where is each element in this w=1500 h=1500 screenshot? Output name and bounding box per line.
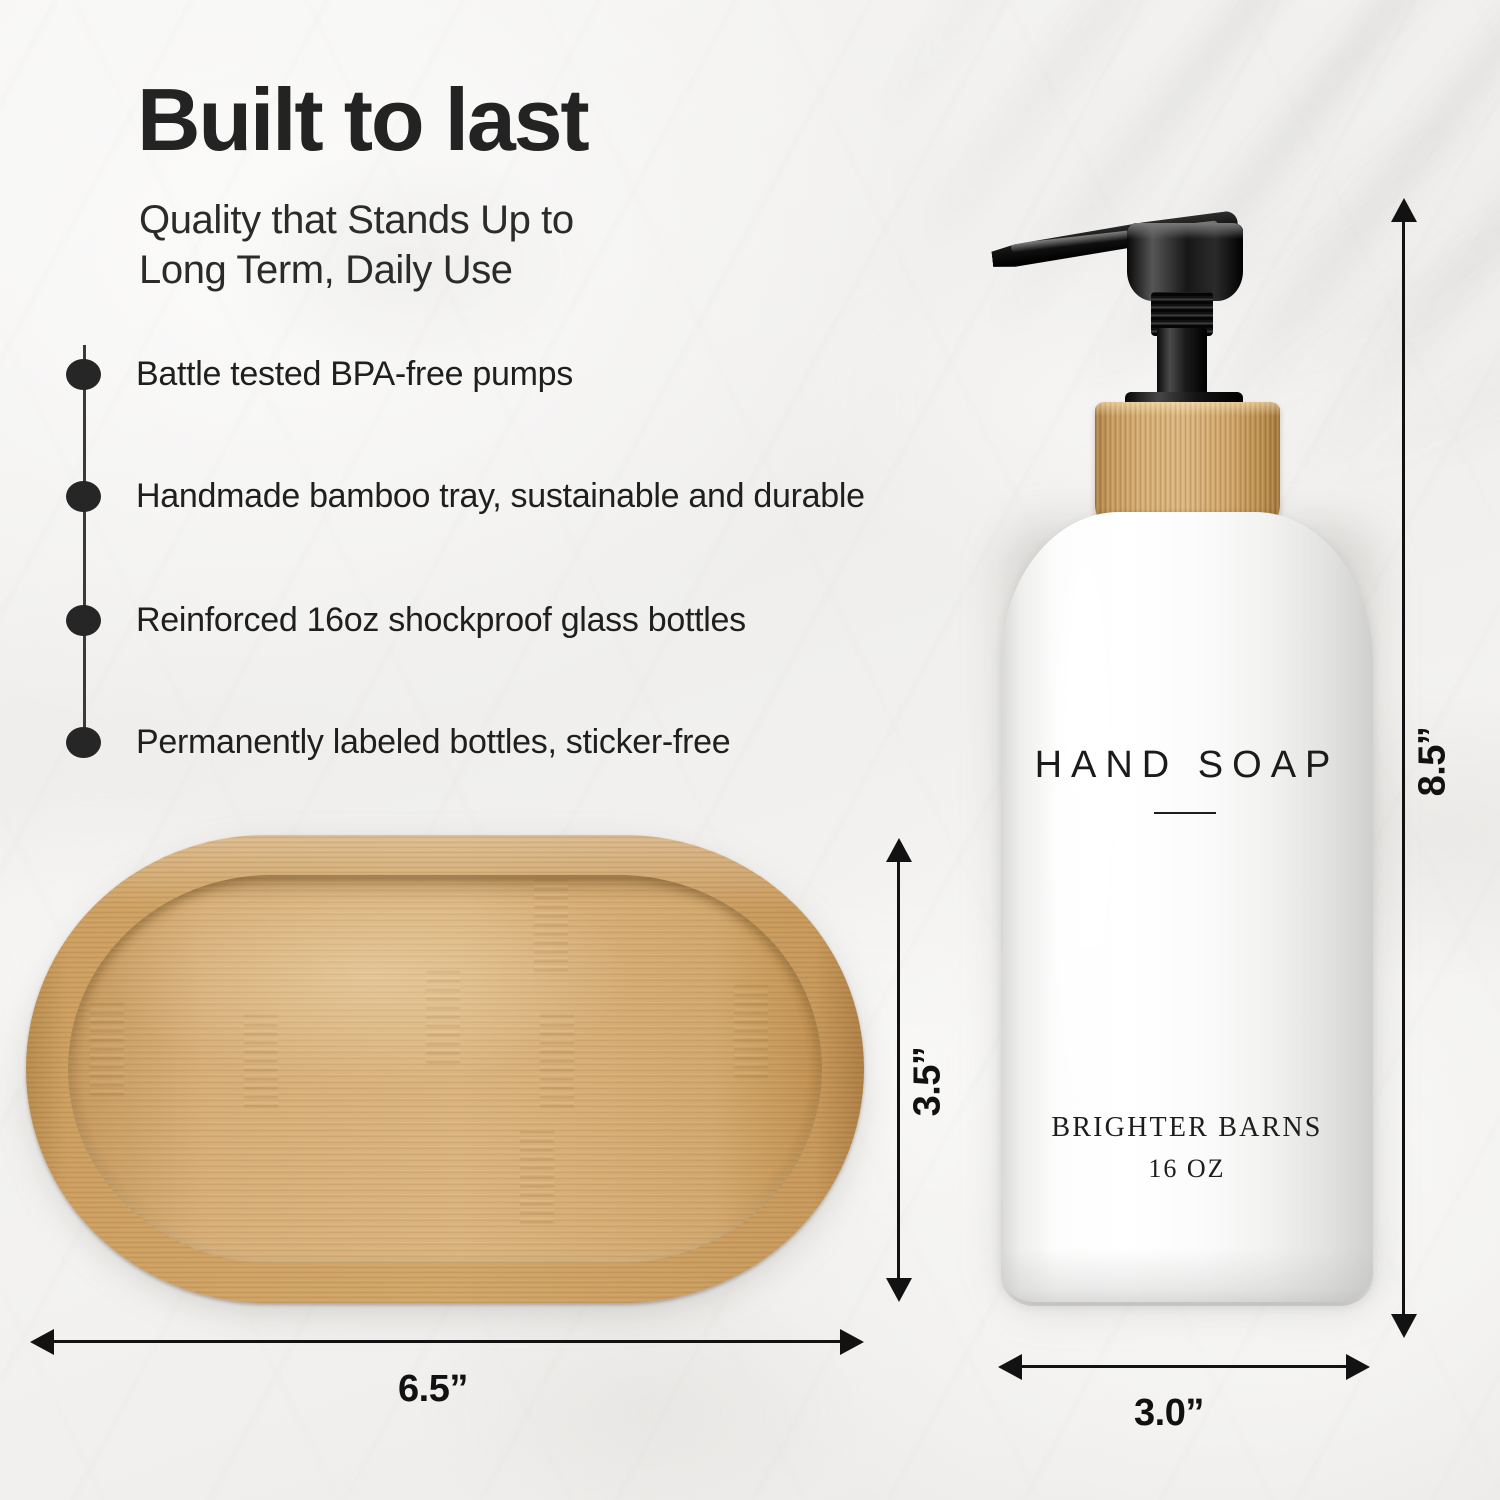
soap-bottle-image: HAND SOAP BRIGHTER BARNS 16 OZ — [985, 196, 1385, 1306]
page-subtitle: Quality that Stands Up to Long Term, Dai… — [139, 196, 799, 295]
collar-top-highlight — [1095, 402, 1280, 416]
list-item-label: Permanently labeled bottles, sticker-fre… — [136, 723, 730, 762]
bottle-width-dimension-line — [1020, 1365, 1350, 1368]
list-item: Battle tested BPA-free pumps — [66, 354, 573, 394]
bullet-dot-icon — [66, 727, 101, 758]
tray-depth-dimension-line — [897, 858, 900, 1282]
arrowhead-left-icon — [998, 1354, 1022, 1380]
bamboo-node-icon — [734, 985, 768, 1081]
arrowhead-up-icon — [886, 838, 912, 862]
bamboo-node-icon — [244, 1015, 278, 1111]
arrowhead-down-icon — [1391, 1314, 1417, 1338]
bamboo-node-icon — [426, 971, 460, 1067]
tray-depth-dimension-label: 3.5” — [906, 1047, 949, 1117]
bullet-dot-icon — [66, 481, 101, 512]
tray-inner-well — [68, 875, 822, 1263]
list-item-label: Reinforced 16oz shockproof glass bottles — [136, 601, 746, 640]
bullet-dot-icon — [66, 359, 101, 390]
arrowhead-right-icon — [1346, 1354, 1370, 1380]
bamboo-tray-image — [26, 835, 864, 1303]
tray-inner-grain — [68, 875, 822, 1263]
list-item: Reinforced 16oz shockproof glass bottles — [66, 600, 746, 640]
bottle-base-shading — [1001, 1248, 1373, 1306]
list-item: Permanently labeled bottles, sticker-fre… — [66, 722, 730, 762]
bamboo-node-icon — [90, 1003, 124, 1099]
bottle-height-dimension-line — [1402, 218, 1405, 1318]
pump-cap-icon — [1127, 223, 1243, 301]
list-item-label: Handmade bamboo tray, sustainable and du… — [136, 477, 865, 516]
list-item: Handmade bamboo tray, sustainable and du… — [66, 476, 865, 516]
bullet-dot-icon — [66, 605, 101, 636]
arrowhead-down-icon — [886, 1278, 912, 1302]
arrowhead-left-icon — [30, 1329, 54, 1355]
tray-width-dimension-line — [52, 1340, 842, 1343]
tray-width-dimension-label: 6.5” — [398, 1368, 468, 1411]
tray-rim — [26, 835, 864, 1303]
bullet-connector-line — [83, 345, 86, 745]
bamboo-collar — [1095, 402, 1280, 526]
product-infographic: Built to last Quality that Stands Up to … — [0, 0, 1500, 1500]
bottle-height-dimension-label: 8.5” — [1411, 727, 1454, 797]
arrowhead-right-icon — [840, 1329, 864, 1355]
bottle-volume-label: 16 OZ — [1001, 1154, 1373, 1184]
list-item-label: Battle tested BPA-free pumps — [136, 355, 573, 394]
page-title: Built to last — [137, 78, 897, 162]
bottle-width-dimension-label: 3.0” — [1134, 1392, 1204, 1435]
bamboo-node-icon — [520, 1131, 554, 1227]
bottle-label-title: HAND SOAP — [1001, 744, 1373, 787]
bamboo-node-icon — [540, 1015, 574, 1111]
arrowhead-up-icon — [1391, 198, 1417, 222]
bamboo-node-icon — [534, 879, 568, 975]
bottle-brand-label: BRIGHTER BARNS — [1001, 1112, 1373, 1144]
bottle-label-divider — [1154, 812, 1216, 814]
